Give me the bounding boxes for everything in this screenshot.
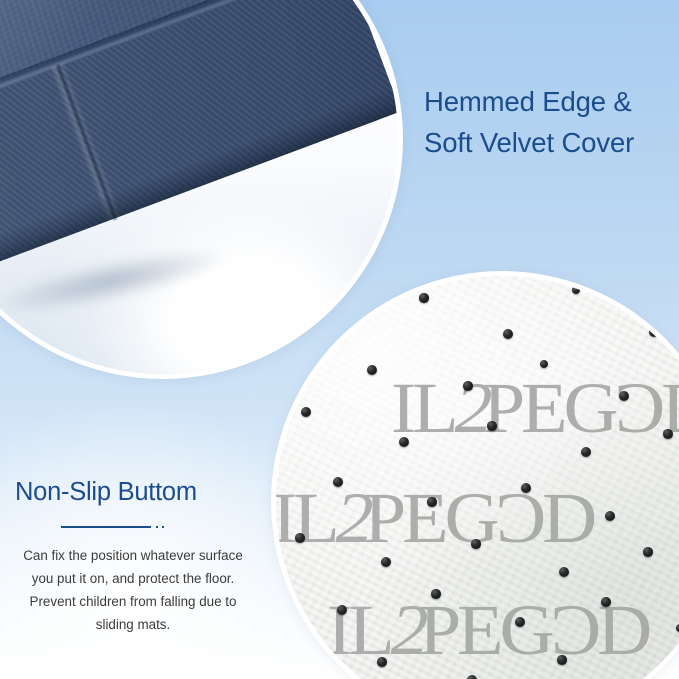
anti-slip-dot [471, 539, 480, 548]
feature-divider [8, 520, 258, 534]
anti-slip-dot [337, 605, 347, 615]
anti-slip-dot [663, 429, 673, 439]
anti-slip-dot [581, 447, 591, 457]
anti-slip-dot [431, 589, 440, 598]
feature-body-line-3: Prevent children from falling due to [8, 590, 258, 613]
product-feature-infographic: IL2PEGƆD IL2PEGƆD IL2PEGƆD Hemmed Edge &… [0, 0, 679, 679]
feature-body-line-4: sliding mats. [8, 613, 258, 636]
anti-slip-dot [557, 655, 566, 664]
feature-body-line-1: Can fix the position whatever surface [8, 544, 258, 567]
brand-watermark-suffix: PEGƆD [483, 368, 679, 448]
anti-slip-dot [419, 293, 428, 302]
brand-watermark-swash: 2 [455, 368, 483, 448]
headline-line-1: Hemmed Edge & [424, 82, 676, 123]
anti-slip-dot [601, 597, 611, 607]
feature-body-line-2: you put it on, and protect the floor. [8, 567, 258, 590]
anti-slip-dot [487, 421, 496, 430]
anti-slip-dot [467, 675, 477, 679]
anti-slip-dot [295, 533, 305, 543]
brand-watermark-suffix: PEGƆD [419, 590, 648, 670]
headline-line-2: Soft Velvet Cover [424, 123, 676, 164]
non-slip-mat-photo: IL2PEGƆD IL2PEGƆD IL2PEGƆD [276, 276, 679, 679]
feature-body: Can fix the position whatever surface yo… [8, 544, 258, 636]
divider-dot-first [156, 526, 158, 528]
headline: Hemmed Edge & Soft Velvet Cover [424, 82, 676, 163]
anti-slip-dot [377, 657, 387, 667]
anti-slip-dot [427, 497, 436, 506]
brand-watermark-prefix: IL [276, 478, 336, 558]
brand-watermark: IL2PEGƆD [391, 372, 679, 444]
anti-slip-dot [301, 407, 311, 417]
brand-watermark-swash: 2 [391, 590, 419, 670]
divider-dot-second [162, 526, 164, 528]
brand-watermark: IL2PEGƆD [327, 594, 648, 666]
feature-title: Non-Slip Buttom [8, 478, 258, 506]
brand-watermark: IL2PEGƆD [276, 482, 593, 554]
anti-slip-dot [643, 547, 653, 557]
anti-slip-dot [559, 567, 569, 577]
anti-slip-dot [463, 381, 473, 391]
anti-slip-dot [521, 483, 531, 493]
feature-text-block: Non-Slip Buttom Can fix the position wha… [8, 478, 258, 636]
brand-watermark-swash: 2 [336, 478, 364, 558]
divider-rule [61, 526, 151, 528]
anti-slip-dot [649, 327, 659, 337]
brand-watermark-prefix: IL [391, 368, 455, 448]
anti-slip-dot [323, 313, 333, 323]
mat-scene-backdrop: IL2PEGƆD IL2PEGƆD IL2PEGƆD [276, 276, 679, 679]
